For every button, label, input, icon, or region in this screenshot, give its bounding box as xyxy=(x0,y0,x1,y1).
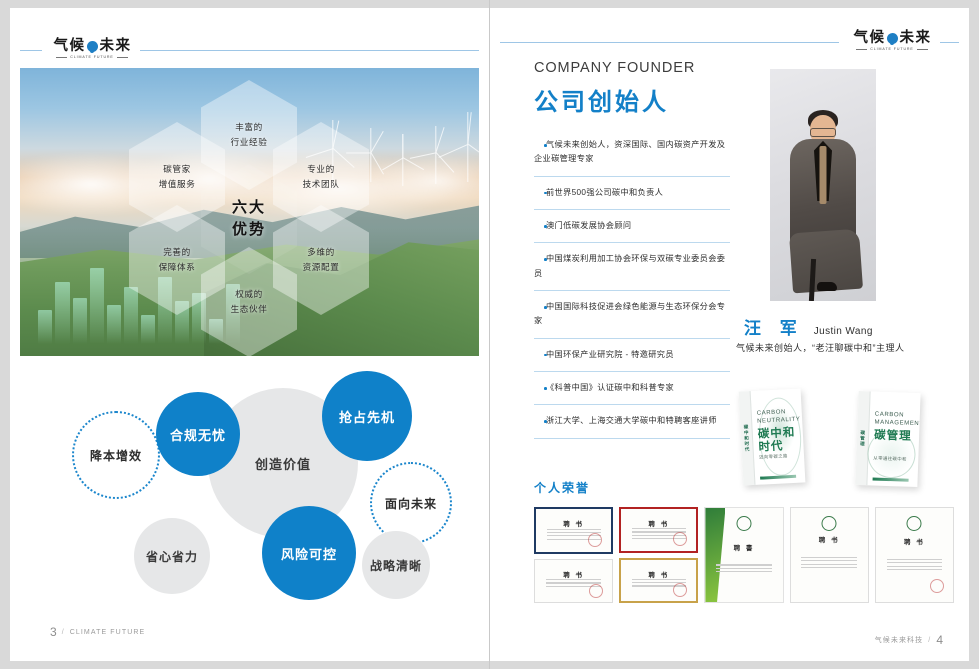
credential-text: 中国环保产业研究院 - 特邀研究员 xyxy=(534,348,730,362)
green-ribbon xyxy=(705,508,725,602)
tagline-dash-left xyxy=(856,49,867,50)
certificate-title: 聘 书 xyxy=(621,569,696,579)
hex-label-line2: 技术团队 xyxy=(303,180,340,189)
certificate-column: 聘 书 聘 书 xyxy=(534,507,613,603)
brand-logo-tagline: CLIMATE FUTURE xyxy=(870,47,913,51)
certificate-thumbnail[interactable]: 聘 書 xyxy=(704,507,783,603)
portrait-tie xyxy=(820,146,827,204)
credential-item: 澳门低碳发展协会顾问 xyxy=(534,210,730,243)
credential-text: 中国煤炭利用加工协会环保与双碳专业委员会委员 xyxy=(534,252,730,281)
hex-label-line2: 保障体系 xyxy=(159,263,196,272)
credential-text: 气候未来创始人，资深国际、国内碳资产开发及企业碳管理专家 xyxy=(534,138,730,167)
founder-name-en: Justin Wang xyxy=(814,326,873,337)
bubble-compliance: 合规无忧 xyxy=(156,392,240,476)
header-rule-right xyxy=(140,50,479,51)
credential-text: 前世界500强公司碳中和负责人 xyxy=(534,186,730,200)
founder-portrait-photo xyxy=(770,69,876,301)
credential-item: 气候未来创始人，资深国际、国内碳资产开发及企业碳管理专家 xyxy=(534,136,730,177)
value-bubble-diagram: 创造价值 降本增效 合规无忧 抢占先机 面向未来 省心省力 风险可控 战略清晰 xyxy=(20,368,479,618)
credential-item: 中国煤炭利用加工协会环保与双碳专业委员会委员 xyxy=(534,243,730,291)
book-carbon-neutrality: 碳中和时代 CARBON NEUTRALITY 碳中和时代 迈向零碳之路 xyxy=(739,388,806,485)
credential-item: 中国环保产业研究院 - 特邀研究员 xyxy=(534,339,730,372)
book-spine-text: 碳管理 xyxy=(859,430,866,447)
hex-label-line2: 生态伙伴 xyxy=(231,305,268,314)
certificate-title: 聘 书 xyxy=(621,518,696,528)
bubble-future-oriented: 面向未来 xyxy=(370,462,452,544)
logo-char-4: 来 xyxy=(116,39,131,54)
book-title-cn: 碳管理 xyxy=(874,430,912,444)
founder-name-row: 汪 军 Justin Wang xyxy=(744,314,873,339)
brand-logo-tagline: CLIMATE FUTURE xyxy=(70,55,113,59)
certificate-title: 聘 书 xyxy=(876,536,953,546)
portrait-shoe xyxy=(817,282,837,291)
certificate-body-lines xyxy=(887,559,943,570)
certificate-thumbnail[interactable]: 聘 书 xyxy=(534,507,613,554)
logo-char-1: 气 xyxy=(54,39,69,54)
credential-text: 中国国际科技促进会绿色能源与生态环保分会专家 xyxy=(534,300,730,329)
hex-label-line1: 多维的 xyxy=(307,248,335,257)
seal-icon xyxy=(673,583,687,597)
publisher-mark xyxy=(760,475,796,480)
lightbulb-icon xyxy=(887,33,898,44)
book-title-en: CARBON MANAGEMENT xyxy=(874,412,920,429)
hex-label-line2: 资源配置 xyxy=(303,263,340,272)
bubble-label: 抢占先机 xyxy=(339,407,395,426)
credential-text: 浙江大学、上海交通大学碳中和特聘客座讲师 xyxy=(534,414,730,428)
page-title: 公司创始人 xyxy=(534,82,669,117)
bubble-risk-control: 风险可控 xyxy=(262,506,356,600)
left-page-footer: 3 / CLIMATE FUTURE xyxy=(50,625,145,639)
bubble-worry-free: 省心省力 xyxy=(134,518,210,594)
logo-char-3: 未 xyxy=(100,39,115,54)
certificate-column: 聘 书 xyxy=(790,507,869,603)
bubble-label: 战略清晰 xyxy=(370,557,422,574)
bubble-first-mover: 抢占先机 xyxy=(322,371,412,461)
certificate-body-lines xyxy=(716,564,772,572)
book-title-en: CARBON NEUTRALITY xyxy=(757,409,801,426)
book-title-en-line1: CARBON xyxy=(757,409,787,417)
seal-icon xyxy=(589,584,603,598)
seal-icon xyxy=(588,533,602,547)
association-logo-icon xyxy=(907,516,922,531)
book-title-en-line2: MANAGEMENT xyxy=(874,419,920,427)
certificate-column: 聘 書 xyxy=(704,507,783,603)
hexagon-cluster: 丰富的 行业经验 专业的 技术团队 多维的 资源配置 权威的 生态伙伴 xyxy=(20,68,479,356)
logo-char-2: 候 xyxy=(70,39,85,54)
hex-label-line2: 行业经验 xyxy=(231,138,268,147)
footer-separator: / xyxy=(62,629,65,636)
tagline-dash-right xyxy=(917,49,928,50)
certificate-title: 聘 書 xyxy=(705,542,782,552)
brand-logo-right: 气 候 未 来 CLIMATE FUTURE xyxy=(850,26,934,56)
header-rule-right xyxy=(940,42,959,43)
bubble-label: 风险可控 xyxy=(281,544,337,563)
association-logo-icon xyxy=(822,516,837,531)
header-rule-left xyxy=(500,42,839,43)
tagline-dash-right xyxy=(117,57,128,58)
certificate-column: 聘 书 xyxy=(875,507,954,603)
eyeglasses-icon xyxy=(810,128,836,137)
hex-center-line1: 六大 xyxy=(232,200,266,217)
certificate-title: 聘 书 xyxy=(791,534,868,544)
certificates-gallery: 聘 书 聘 书 聘 书 聘 书 xyxy=(534,507,954,603)
seal-icon xyxy=(930,579,944,593)
book-title-en-line2: NEUTRALITY xyxy=(757,416,801,424)
certificate-body-lines xyxy=(801,557,857,568)
bubble-clear-strategy: 战略清晰 xyxy=(362,531,430,599)
founder-description: 气候未来创始人，“老汪聊碳中和”主理人 xyxy=(736,341,905,354)
hero-image-six-advantages: 丰富的 行业经验 专业的 技术团队 多维的 资源配置 权威的 生态伙伴 xyxy=(20,68,479,356)
bubble-label: 省心省力 xyxy=(146,548,198,565)
brochure-spread: 气 候 未 来 CLIMATE FUTURE xyxy=(0,0,979,669)
right-page-footer: 气候未来科技 / 4 xyxy=(875,633,943,647)
credential-item: 中国国际科技促进会绿色能源与生态环保分会专家 xyxy=(534,291,730,339)
brand-logo-tagline-row: CLIMATE FUTURE xyxy=(856,47,927,51)
brand-logo-tagline-row: CLIMATE FUTURE xyxy=(56,55,127,59)
left-footer-caption: CLIMATE FUTURE xyxy=(70,629,146,636)
bubble-label: 创造价值 xyxy=(255,454,311,473)
book-title-cn: 碳中和时代 xyxy=(758,426,804,454)
right-page-header: 气 候 未 来 CLIMATE FUTURE xyxy=(490,26,979,56)
hex-label-line1: 碳管家 xyxy=(163,165,191,174)
book-spine-text: 碳中和时代 xyxy=(743,424,750,452)
book-cover: CARBON NEUTRALITY 碳中和时代 迈向零碳之路 xyxy=(750,388,806,485)
hex-label-line1: 专业的 xyxy=(307,165,335,174)
book-carbon-management: 碳管理 CARBON MANAGEMENT 碳管理 从零通往碳中和 xyxy=(855,391,920,487)
brand-logo-left: 气 候 未 来 CLIMATE FUTURE xyxy=(50,34,134,64)
right-page-number: 4 xyxy=(936,633,943,647)
seal-icon xyxy=(673,532,687,546)
founder-name-cn: 汪 军 xyxy=(744,314,804,339)
credential-text: 《科普中国》认证碳中和科普专家 xyxy=(534,381,730,395)
certificate-thumbnail[interactable]: 聘 书 xyxy=(790,507,869,603)
brand-logo-wordmark: 气 候 未 来 xyxy=(854,31,931,46)
bubble-label: 降本增效 xyxy=(90,447,142,464)
left-page-header: 气 候 未 来 CLIMATE FUTURE xyxy=(10,34,489,64)
certificate-thumbnail[interactable]: 聘 书 xyxy=(534,559,613,604)
logo-char-4: 来 xyxy=(916,31,931,46)
hex-label-line2: 增值服务 xyxy=(159,180,196,189)
certificate-thumbnail[interactable]: 聘 书 xyxy=(875,507,954,603)
bubble-cost-reduction: 降本增效 xyxy=(72,411,160,499)
section-eyebrow: COMPANY FOUNDER xyxy=(534,60,695,76)
book-subtitle: 从零通往碳中和 xyxy=(873,456,907,463)
honors-section-title: 个人荣誉 xyxy=(534,479,590,496)
credential-item: 《科普中国》认证碳中和科普专家 xyxy=(534,372,730,405)
certificate-thumbnail[interactable]: 聘 书 xyxy=(619,507,698,553)
certificate-column: 聘 书 聘 书 xyxy=(619,507,698,603)
logo-char-3: 未 xyxy=(900,31,915,46)
hex-label-line1: 权威的 xyxy=(235,290,263,299)
logo-char-2: 候 xyxy=(870,31,885,46)
book-cover: CARBON MANAGEMENT 碳管理 从零通往碳中和 xyxy=(866,391,920,487)
certificate-thumbnail[interactable]: 聘 书 xyxy=(619,558,698,604)
hex-label-line1: 完善的 xyxy=(163,248,191,257)
bubble-label: 面向未来 xyxy=(385,495,437,512)
certificate-title: 聘 书 xyxy=(535,569,612,579)
credential-text: 澳门低碳发展协会顾问 xyxy=(534,219,730,233)
association-logo-icon xyxy=(737,516,752,531)
book-title-en-line1: CARBON xyxy=(875,412,904,419)
credential-item: 前世界500强公司碳中和负责人 xyxy=(534,177,730,210)
left-page: 气 候 未 来 CLIMATE FUTURE xyxy=(10,8,489,661)
published-books: 碳中和时代 CARBON NEUTRALITY 碳中和时代 迈向零碳之路 碳管理 xyxy=(735,386,955,498)
tagline-dash-left xyxy=(56,57,67,58)
footer-separator: / xyxy=(928,637,931,644)
lightbulb-icon xyxy=(87,41,98,52)
header-rule-left xyxy=(20,50,42,51)
left-page-number: 3 xyxy=(50,625,57,639)
publisher-mark xyxy=(873,477,909,481)
right-footer-caption: 气候未来科技 xyxy=(875,635,924,645)
bubble-label: 合规无忧 xyxy=(170,425,226,444)
credentials-list: 气候未来创始人，资深国际、国内碳资产开发及企业碳管理专家 前世界500强公司碳中… xyxy=(534,136,730,439)
logo-char-1: 气 xyxy=(854,31,869,46)
credential-item: 浙江大学、上海交通大学碳中和特聘客座讲师 xyxy=(534,405,730,438)
brand-logo-wordmark: 气 候 未 来 xyxy=(54,39,131,54)
hex-label-line1: 丰富的 xyxy=(235,123,263,132)
certificate-title: 聘 书 xyxy=(536,518,611,528)
hex-center-line2: 优势 xyxy=(232,222,266,239)
